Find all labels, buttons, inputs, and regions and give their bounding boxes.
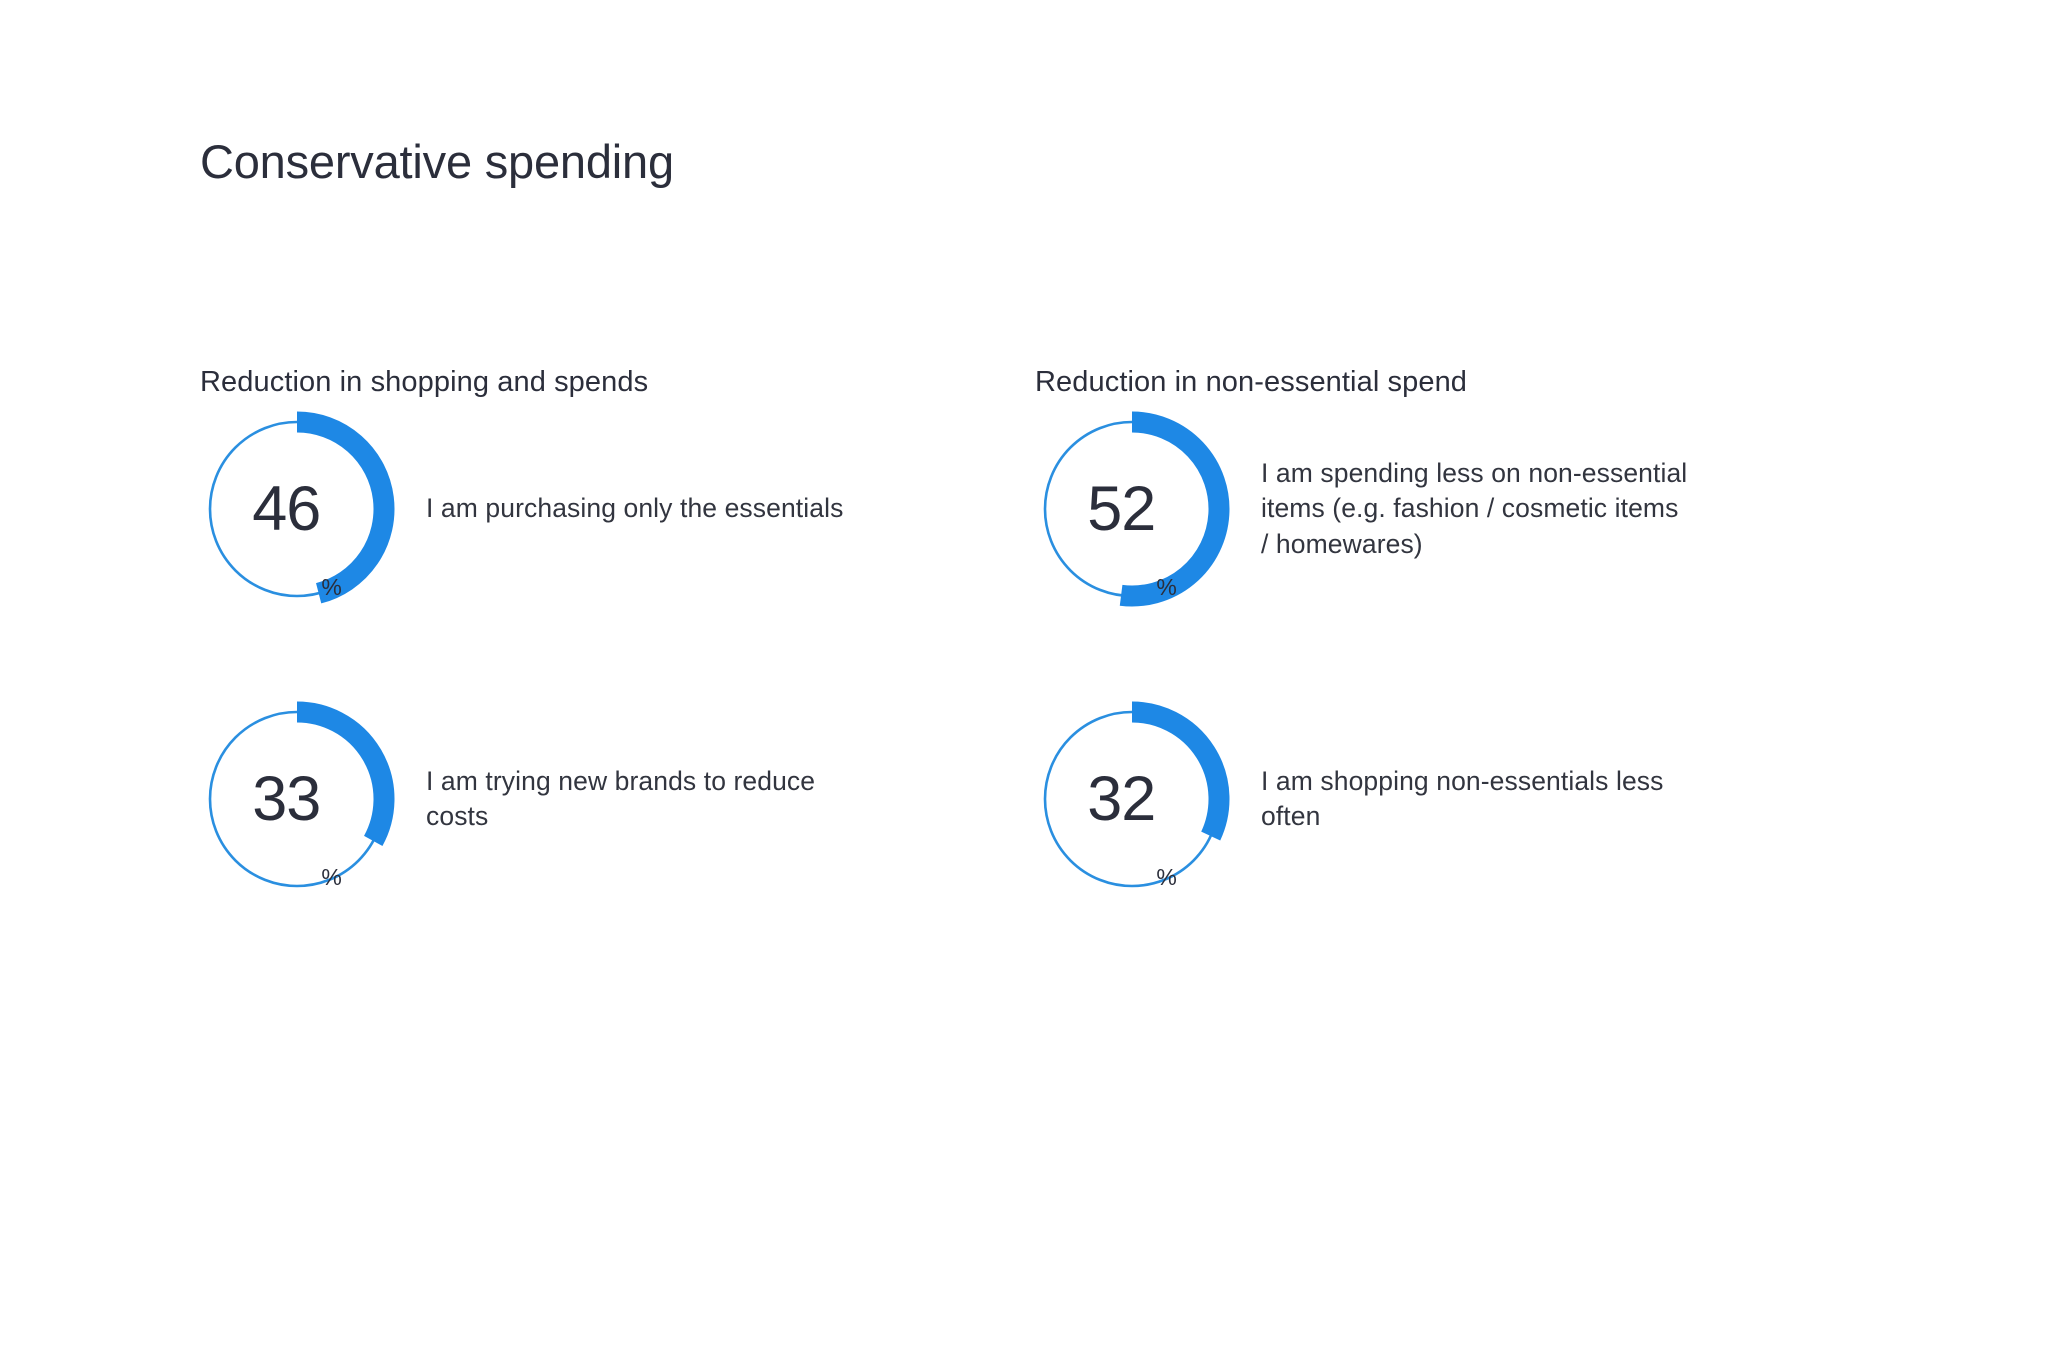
stat-row: 52 % I am spending less on non-essential… xyxy=(1035,412,1895,606)
stat-label: I am spending less on non-essential item… xyxy=(1261,456,1691,562)
donut-arc xyxy=(297,712,384,841)
donut-svg xyxy=(1035,702,1229,896)
stat-label: I am shopping non-essentials less often xyxy=(1261,764,1691,834)
donut-arc xyxy=(1121,422,1219,596)
donut-svg xyxy=(200,412,394,606)
column-reduction-in-non-essential-spend: Reduction in non-essential spend 52 % I … xyxy=(1035,0,1895,1365)
donut-chart: 32 % xyxy=(1035,702,1229,896)
donut-arc xyxy=(297,422,384,593)
column-heading: Reduction in non-essential spend xyxy=(1035,366,1467,399)
stat-label: I am purchasing only the essentials xyxy=(426,491,843,526)
donut-chart: 46 % xyxy=(200,412,394,606)
stat-columns: Reduction in shopping and spends 46 % I … xyxy=(0,0,2048,1365)
column-heading: Reduction in shopping and spends xyxy=(200,366,648,399)
infographic-page: Conservative spending Reduction in shopp… xyxy=(0,0,2048,1365)
stat-row: 32 % I am shopping non-essentials less o… xyxy=(1035,702,1895,896)
donut-arc xyxy=(1132,712,1219,836)
stat-row: 46 % I am purchasing only the essentials xyxy=(200,412,1060,606)
stat-row: 33 % I am trying new brands to reduce co… xyxy=(200,702,1060,896)
donut-chart: 33 % xyxy=(200,702,394,896)
donut-svg xyxy=(200,702,394,896)
donut-svg xyxy=(1035,412,1229,606)
donut-chart: 52 % xyxy=(1035,412,1229,606)
stat-label: I am trying new brands to reduce costs xyxy=(426,764,846,834)
column-reduction-in-shopping-and-spends: Reduction in shopping and spends 46 % I … xyxy=(200,0,1060,1365)
